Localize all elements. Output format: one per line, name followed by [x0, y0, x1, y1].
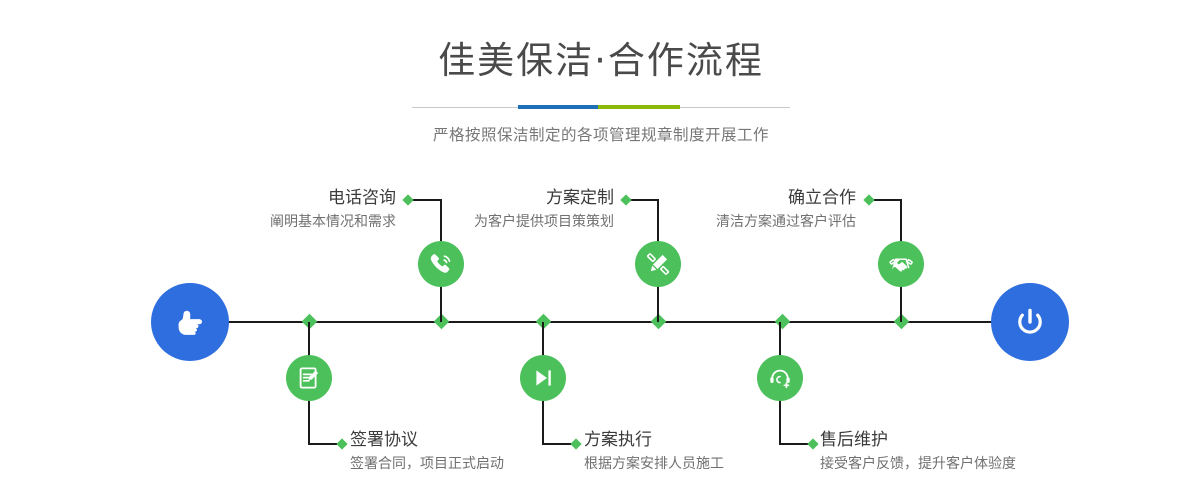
customer-service-add-icon — [767, 365, 793, 391]
step-node-6[interactable] — [757, 355, 803, 401]
power-icon — [1010, 302, 1050, 342]
pointing-hand-icon — [170, 302, 210, 342]
label-marker-step5 — [863, 194, 874, 205]
axis-marker-5 — [775, 314, 791, 330]
end-node[interactable] — [991, 283, 1069, 361]
step-title-2: 签署协议 — [350, 430, 600, 451]
step-desc-5: 清洁方案通过客户评估 — [612, 213, 856, 232]
step-label-4: 方案执行 根据方案安排人员施工 — [584, 430, 834, 474]
step-title-1: 电话咨询 — [150, 188, 396, 209]
handshake-icon — [888, 251, 914, 277]
play-next-icon — [530, 365, 556, 391]
step-node-5[interactable] — [878, 241, 924, 287]
label-marker-step2 — [336, 438, 347, 449]
title-divider — [412, 105, 790, 109]
step-label-6: 售后维护 接受客户反馈，提升客户体验度 — [820, 430, 1080, 474]
step-label-5: 确立合作 清洁方案通过客户评估 — [612, 188, 856, 232]
step-desc-4: 根据方案安排人员施工 — [584, 455, 834, 474]
step-desc-2: 签署合同，项目正式启动 — [350, 455, 600, 474]
step-title-4: 方案执行 — [584, 430, 834, 451]
step-node-4[interactable] — [520, 355, 566, 401]
step-node-2[interactable] — [286, 355, 332, 401]
step-node-3[interactable] — [635, 241, 681, 287]
divider-green-segment — [598, 105, 680, 109]
connector-horizontal-step5 — [872, 199, 901, 201]
step-title-3: 方案定制 — [370, 188, 614, 209]
page-title: 佳美保洁·合作流程 — [0, 42, 1202, 79]
step-label-1: 电话咨询 阐明基本情况和需求 — [150, 188, 396, 232]
phone-call-icon — [428, 251, 454, 277]
step-desc-6: 接受客户反馈，提升客户体验度 — [820, 455, 1080, 474]
step-label-3: 方案定制 为客户提供项目策策划 — [370, 188, 614, 232]
header: 佳美保洁·合作流程 严格按照保洁制定的各项管理规章制度开展工作 — [0, 0, 1202, 145]
divider-blue-segment — [518, 105, 598, 109]
document-edit-icon — [296, 365, 322, 391]
process-flow-infographic: 佳美保洁·合作流程 严格按照保洁制定的各项管理规章制度开展工作 — [0, 0, 1202, 502]
step-node-1[interactable] — [418, 241, 464, 287]
step-label-2: 签署协议 签署合同，项目正式启动 — [350, 430, 600, 474]
step-desc-1: 阐明基本情况和需求 — [150, 213, 396, 232]
pencil-ruler-icon — [645, 251, 671, 277]
step-title-5: 确立合作 — [612, 188, 856, 209]
step-desc-3: 为客户提供项目策策划 — [370, 213, 614, 232]
step-title-6: 售后维护 — [820, 430, 1080, 451]
page-subtitle: 严格按照保洁制定的各项管理规章制度开展工作 — [0, 123, 1202, 145]
start-node[interactable] — [151, 283, 229, 361]
